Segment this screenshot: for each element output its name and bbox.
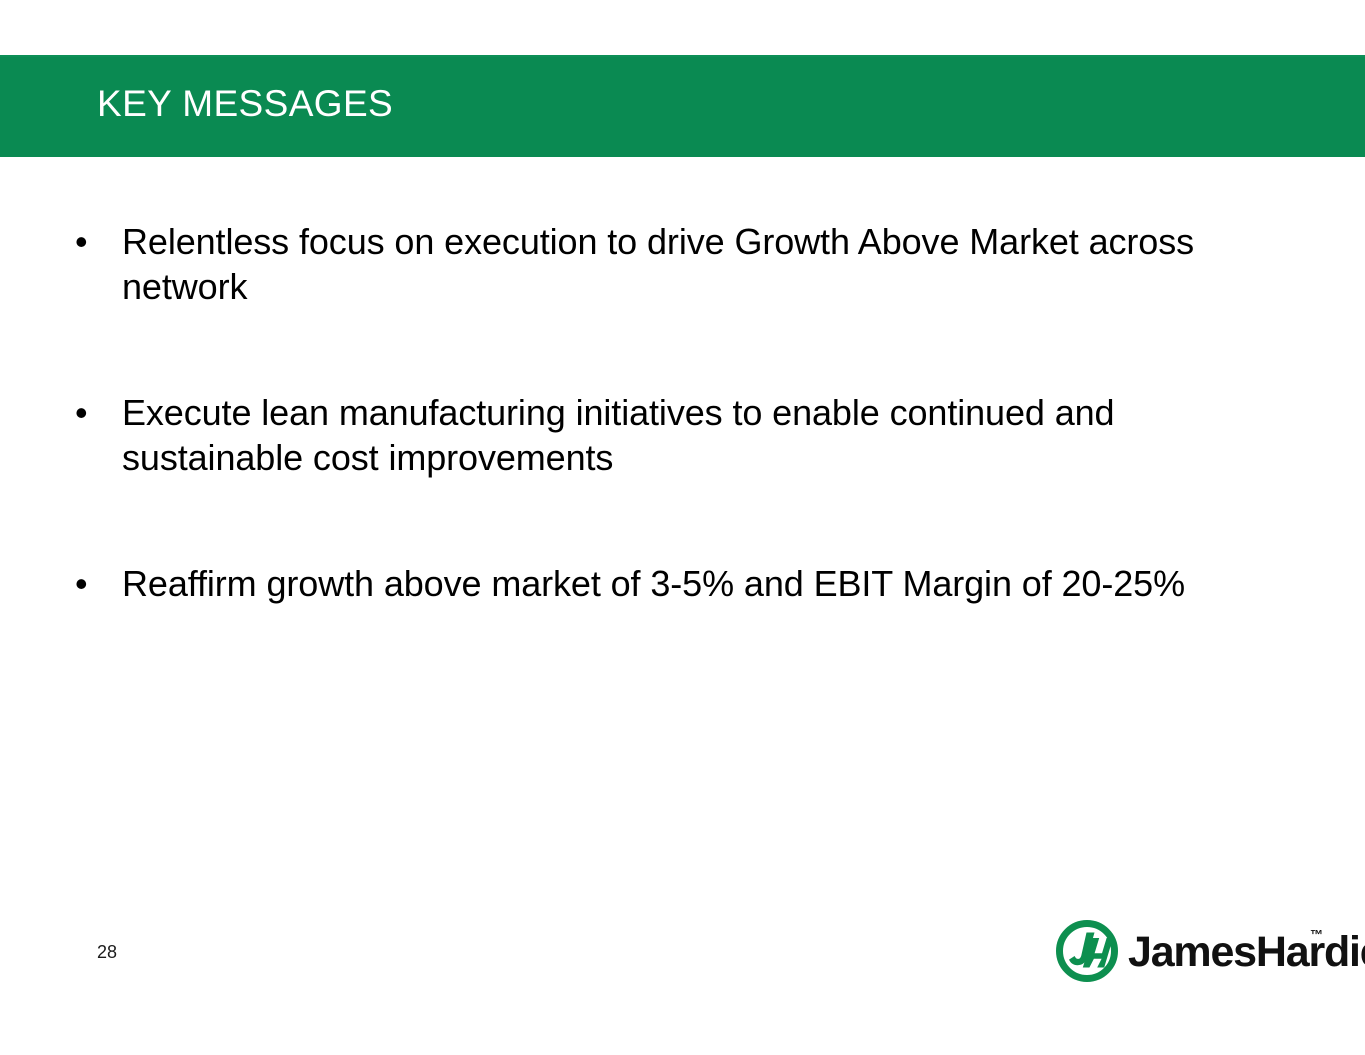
bullet-text: Relentless focus on execution to drive G… <box>122 219 1252 309</box>
logo-wordmark: JamesHardie <box>1128 929 1365 975</box>
bullet-point-icon: • <box>75 219 99 264</box>
bullet-point-icon: • <box>75 561 99 606</box>
page-number: 28 <box>97 941 117 963</box>
bullet-text: Execute lean manufacturing initiatives t… <box>122 390 1252 480</box>
bullet-text: Reaffirm growth above market of 3-5% and… <box>122 561 1252 606</box>
company-logo: JamesHardie ™ <box>1056 918 1356 984</box>
list-item: • Relentless focus on execution to drive… <box>0 219 1365 309</box>
bullet-list: • Relentless focus on execution to drive… <box>0 219 1365 606</box>
list-item: • Reaffirm growth above market of 3-5% a… <box>0 561 1365 606</box>
jh-monogram-icon <box>1056 920 1118 982</box>
list-item: • Execute lean manufacturing initiatives… <box>0 390 1365 480</box>
header-band-top-edge <box>0 55 1365 57</box>
bullet-point-icon: • <box>75 390 99 435</box>
trademark-icon: ™ <box>1310 928 1323 941</box>
presentation-slide: KEY MESSAGES • Relentless focus on execu… <box>0 0 1365 1055</box>
page-title: KEY MESSAGES <box>97 82 393 126</box>
